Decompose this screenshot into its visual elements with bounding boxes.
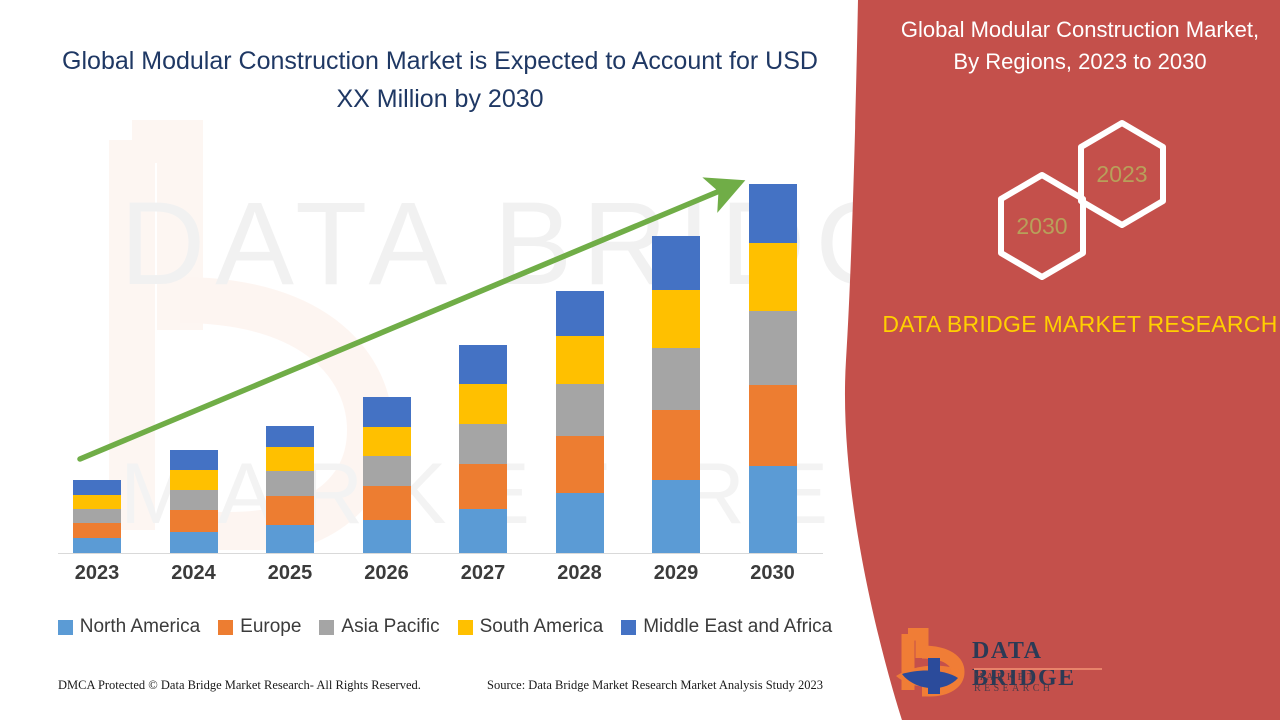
bar-segment-north-america [556, 493, 604, 553]
bar-segment-asia-pacific [652, 348, 700, 410]
x-axis-label-2027: 2027 [443, 562, 523, 585]
bar-segment-south-america [749, 243, 797, 311]
x-axis-label-2029: 2029 [636, 562, 716, 585]
panel-title: Global Modular Construction Market, By R… [880, 14, 1280, 78]
x-axis-label-2030: 2030 [733, 562, 813, 585]
x-axis-label-2026: 2026 [347, 562, 427, 585]
legend-label: South America [480, 616, 604, 638]
bar-segment-europe [556, 436, 604, 493]
bar-segment-north-america [363, 520, 411, 553]
year-hexagons: 2023 2030 [980, 118, 1180, 283]
chart-legend: North AmericaEuropeAsia PacificSouth Ame… [60, 616, 830, 638]
x-axis-label-2025: 2025 [250, 562, 330, 585]
bar-segment-middle-east-and-africa [363, 397, 411, 427]
copyright-text: DMCA Protected © Data Bridge Market Rese… [58, 678, 421, 693]
legend-swatch-icon [58, 620, 73, 635]
legend-swatch-icon [319, 620, 334, 635]
legend-label: Europe [240, 616, 301, 638]
bar-segment-south-america [459, 384, 507, 424]
bar-segment-north-america [459, 509, 507, 553]
logo-divider [974, 668, 1102, 670]
hexagon-2030: 2030 [992, 170, 1092, 282]
source-text: Source: Data Bridge Market Research Mark… [487, 678, 823, 693]
bar-segment-europe [266, 496, 314, 525]
legend-swatch-icon [458, 620, 473, 635]
bar-segment-middle-east-and-africa [170, 450, 218, 470]
bar-segment-north-america [652, 480, 700, 553]
bar-2026[interactable] [363, 397, 411, 553]
legend-swatch-icon [218, 620, 233, 635]
bar-segment-north-america [749, 466, 797, 553]
x-axis-label-2023: 2023 [57, 562, 137, 585]
bar-2024[interactable] [170, 450, 218, 553]
legend-label: Asia Pacific [341, 616, 439, 638]
x-axis-label-2028: 2028 [540, 562, 620, 585]
bar-segment-middle-east-and-africa [652, 236, 700, 290]
bar-segment-asia-pacific [266, 471, 314, 496]
bar-2027[interactable] [459, 345, 507, 553]
bar-chart: 20232024202520262027202820292030 [0, 0, 860, 600]
bar-segment-asia-pacific [556, 384, 604, 436]
bar-segment-europe [459, 464, 507, 509]
legend-label: North America [80, 616, 200, 638]
bar-segment-middle-east-and-africa [73, 480, 121, 495]
bar-segment-south-america [556, 336, 604, 384]
bar-segment-europe [73, 523, 121, 538]
bar-segment-asia-pacific [170, 490, 218, 510]
bar-segment-europe [652, 410, 700, 480]
legend-swatch-icon [621, 620, 636, 635]
bar-segment-north-america [266, 525, 314, 553]
bar-segment-europe [363, 486, 411, 520]
legend-item-north-america[interactable]: North America [58, 616, 200, 638]
bar-segment-north-america [73, 538, 121, 553]
footer: DMCA Protected © Data Bridge Market Rese… [0, 678, 860, 708]
bar-segment-asia-pacific [459, 424, 507, 464]
bar-2025[interactable] [266, 426, 314, 553]
bar-2028[interactable] [556, 291, 604, 553]
x-axis-label-2024: 2024 [154, 562, 234, 585]
axis-baseline [58, 553, 823, 554]
bar-segment-europe [170, 510, 218, 532]
legend-label: Middle East and Africa [643, 616, 832, 638]
company-logo: DATA BRIDGE MARKET RESEARCH [888, 628, 1118, 700]
legend-item-asia-pacific[interactable]: Asia Pacific [319, 616, 439, 638]
bar-segment-middle-east-and-africa [459, 345, 507, 384]
bar-segment-middle-east-and-africa [556, 291, 604, 336]
legend-item-south-america[interactable]: South America [458, 616, 604, 638]
bar-segment-middle-east-and-africa [266, 426, 314, 447]
bar-2030[interactable] [749, 184, 797, 553]
bar-segment-south-america [73, 495, 121, 509]
bar-segment-asia-pacific [749, 311, 797, 385]
x-axis-labels: 20232024202520262027202820292030 [0, 562, 860, 596]
bar-series-container [0, 0, 860, 553]
legend-item-europe[interactable]: Europe [218, 616, 301, 638]
bar-2023[interactable] [73, 480, 121, 553]
logo-tagline: MARKET RESEARCH [974, 672, 1118, 694]
legend-item-middle-east-and-africa[interactable]: Middle East and Africa [621, 616, 832, 638]
bar-segment-south-america [170, 470, 218, 490]
bar-segment-europe [749, 385, 797, 466]
infographic-canvas: DATA BRIDGE MARKET RESEARCH Global Modul… [0, 0, 1280, 720]
bar-segment-asia-pacific [73, 509, 121, 523]
bar-segment-south-america [652, 290, 700, 348]
bar-segment-south-america [266, 447, 314, 471]
bar-segment-asia-pacific [363, 456, 411, 486]
bar-2029[interactable] [652, 236, 700, 553]
bar-segment-middle-east-and-africa [749, 184, 797, 243]
bar-segment-south-america [363, 427, 411, 456]
brand-panel: Global Modular Construction Market, By R… [880, 0, 1280, 720]
bar-segment-north-america [170, 532, 218, 553]
hexagon-2030-label: 2030 [992, 170, 1092, 282]
brand-name: DATA BRIDGE MARKET RESEARCH [880, 308, 1280, 340]
